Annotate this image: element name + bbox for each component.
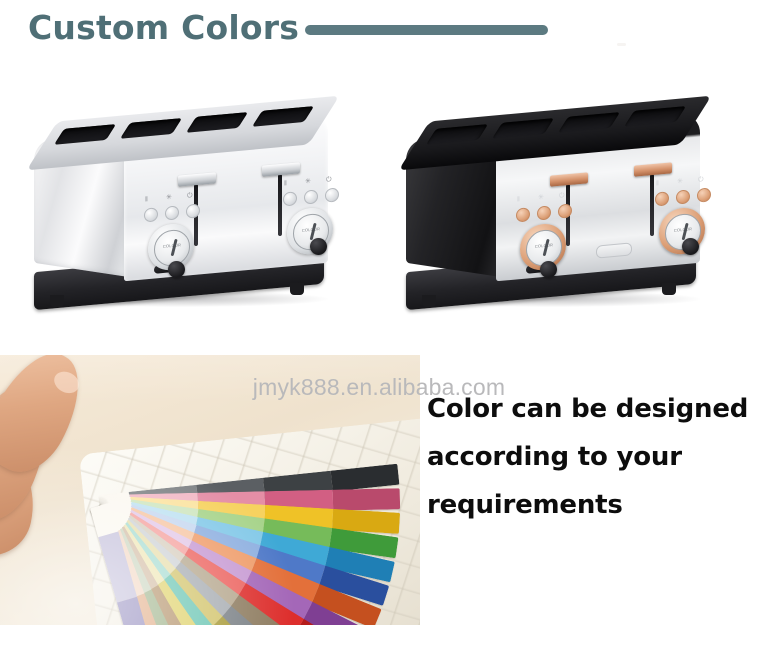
reheat-button[interactable]: [283, 191, 297, 206]
cancel-power-icon: ⏻: [559, 192, 565, 201]
reheat-icon: ‖: [656, 180, 659, 188]
reheat-button[interactable]: [144, 207, 158, 222]
product-black-toaster[interactable]: ‖ ✳ ⏻ COLOUR ‖: [372, 66, 742, 346]
cancel-power-icon: ⏻: [187, 192, 193, 201]
control-cluster-left[interactable]: ‖ ✳ ⏻ COLOUR: [144, 191, 200, 272]
bread-slot: [492, 118, 554, 139]
defrost-snowflake-icon: ✳: [677, 178, 683, 187]
control-button-row[interactable]: [283, 187, 339, 205]
crumb-tray-knob[interactable]: [682, 238, 699, 255]
color-swatch: [330, 464, 399, 492]
crumb-tray-knob[interactable]: [168, 261, 185, 278]
color-swatch: [332, 488, 400, 511]
crumb-tray-knob[interactable]: [540, 261, 557, 278]
header-artifact: [617, 43, 626, 46]
bread-slot: [54, 124, 116, 145]
cancel-button[interactable]: [325, 187, 339, 202]
toaster-foot: [422, 295, 436, 307]
defrost-button[interactable]: [676, 189, 690, 204]
page-title: Custom Colors: [28, 8, 299, 47]
defrost-button[interactable]: [537, 205, 551, 220]
bread-slot: [624, 106, 686, 127]
product-image-row: ‖ ✳ ⏻ COLOUR ‖: [0, 66, 758, 355]
product-silver-toaster[interactable]: ‖ ✳ ⏻ COLOUR ‖: [0, 66, 370, 346]
cancel-power-icon: ⏻: [698, 176, 704, 185]
toaster-foot: [662, 283, 676, 295]
reheat-button[interactable]: [655, 191, 669, 206]
caption-line-3: requirements: [427, 481, 747, 529]
reheat-icon: ‖: [145, 196, 148, 204]
cancel-button[interactable]: [186, 203, 200, 218]
control-button-row[interactable]: [144, 203, 200, 221]
control-button-row[interactable]: [516, 203, 572, 221]
watermark-text: jmyk888.en.alibaba.com: [0, 374, 758, 401]
bread-slot: [186, 112, 248, 133]
defrost-button[interactable]: [304, 189, 318, 204]
bread-slot: [252, 106, 314, 127]
defrost-snowflake-icon: ✳: [166, 194, 172, 203]
crumb-tray-knob[interactable]: [310, 238, 327, 255]
caption-block: Color can be designed according to your …: [427, 385, 747, 529]
black-toaster-body: ‖ ✳ ⏻ COLOUR ‖: [400, 96, 716, 311]
cancel-power-icon: ⏻: [326, 176, 332, 185]
caption-line-2: according to your: [427, 433, 747, 481]
bread-slot: [426, 124, 488, 145]
title-divider-rule: [305, 25, 548, 35]
header: Custom Colors: [0, 0, 758, 66]
cancel-button[interactable]: [558, 203, 572, 218]
silver-toaster-body: ‖ ✳ ⏻ COLOUR ‖: [28, 96, 344, 311]
defrost-snowflake-icon: ✳: [538, 194, 544, 203]
reheat-button[interactable]: [516, 207, 530, 222]
control-button-row[interactable]: [655, 187, 711, 205]
toaster-foot: [290, 283, 304, 295]
toaster-foot: [50, 295, 64, 307]
defrost-snowflake-icon: ✳: [305, 178, 311, 187]
defrost-button[interactable]: [165, 205, 179, 220]
lever-stem: [650, 174, 654, 236]
lever-stem: [278, 174, 282, 236]
bread-slot: [120, 118, 182, 139]
bread-slot: [558, 112, 620, 133]
reheat-icon: ‖: [284, 180, 287, 188]
reheat-icon: ‖: [517, 196, 520, 204]
control-cluster-left[interactable]: ‖ ✳ ⏻ COLOUR: [516, 191, 572, 272]
cancel-button[interactable]: [697, 187, 711, 202]
